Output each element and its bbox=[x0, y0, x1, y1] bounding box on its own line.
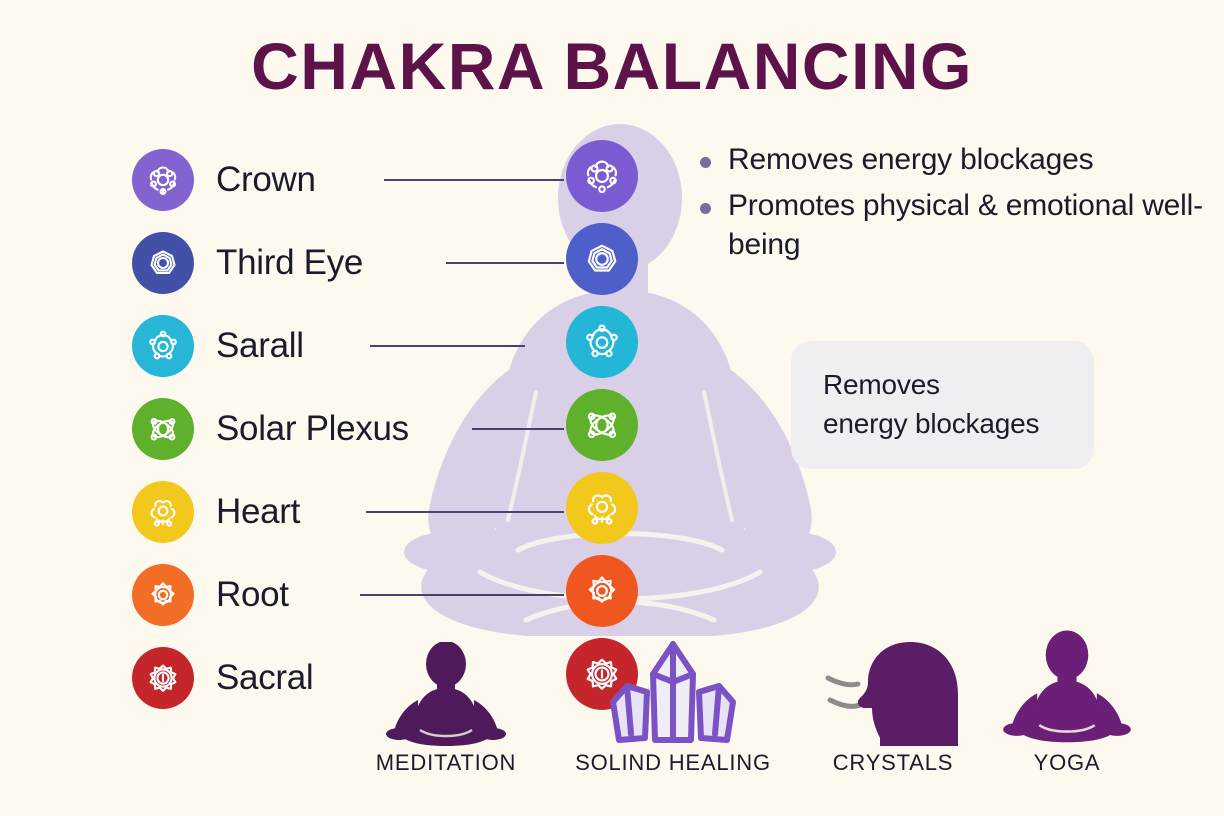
connector-line bbox=[366, 511, 564, 513]
legend-row-heart[interactable]: Heart bbox=[132, 470, 562, 553]
callout-text: Removes energy blockages bbox=[823, 366, 1039, 443]
sound-head-profile-icon bbox=[804, 632, 982, 750]
chakra-root-icon bbox=[132, 564, 194, 626]
modality-label: SOLIND HEALING bbox=[560, 750, 786, 776]
legend-label: Solar Plexus bbox=[216, 409, 409, 449]
legend-label: Crown bbox=[216, 160, 316, 200]
spine-node-heart[interactable] bbox=[566, 472, 638, 544]
connector-line bbox=[360, 594, 564, 596]
meditation-figure-icon bbox=[352, 638, 540, 750]
bullet-dot-icon bbox=[700, 157, 711, 168]
connector-line bbox=[384, 179, 564, 181]
infographic-canvas: CHAKRA BALANCING bbox=[0, 0, 1224, 816]
bullet-dot-icon bbox=[700, 203, 711, 214]
spine-node-crown[interactable] bbox=[566, 140, 638, 212]
chakra-third-eye-icon bbox=[132, 232, 194, 294]
modality-meditation[interactable]: MEDITATION bbox=[352, 638, 540, 776]
legend-label: Sarall bbox=[216, 326, 304, 366]
spine-node-throat[interactable] bbox=[566, 306, 638, 378]
callout-card: Removes energy blockages bbox=[791, 341, 1094, 469]
connector-line bbox=[472, 428, 564, 430]
legend-label: Heart bbox=[216, 492, 300, 532]
modality-sound-healing[interactable]: SOLIND HEALING bbox=[560, 628, 786, 776]
callout-line-2: energy blockages bbox=[823, 408, 1039, 439]
yoga-figure-icon bbox=[992, 624, 1142, 750]
list-item: Promotes physical & emotional well-being bbox=[700, 186, 1210, 265]
legend-row-third-eye[interactable]: Third Eye bbox=[132, 221, 562, 304]
connector-line bbox=[370, 345, 525, 347]
spine-node-root[interactable] bbox=[566, 555, 638, 627]
spine-node-solar-plexus[interactable] bbox=[566, 389, 638, 461]
benefit-text: Removes energy blockages bbox=[728, 140, 1093, 180]
benefits-list: Removes energy blockages Promotes physic… bbox=[700, 140, 1210, 271]
modality-crystals[interactable]: CRYSTALS bbox=[804, 632, 982, 776]
crystals-cluster-icon bbox=[560, 628, 786, 750]
modality-row: MEDITATION bbox=[352, 620, 1142, 816]
legend-label: Sacral bbox=[216, 658, 313, 698]
modality-yoga[interactable]: YOGA bbox=[992, 624, 1142, 776]
legend-row-crown[interactable]: Crown bbox=[132, 138, 562, 221]
chakra-solar-plexus-icon bbox=[132, 398, 194, 460]
modality-label: MEDITATION bbox=[352, 750, 540, 776]
list-item: Removes energy blockages bbox=[700, 140, 1210, 180]
legend-row-sarall[interactable]: Sarall bbox=[132, 304, 562, 387]
chakra-crown-icon bbox=[132, 149, 194, 211]
benefit-text: Promotes physical & emotional well-being bbox=[728, 186, 1210, 265]
page-title: CHAKRA BALANCING bbox=[0, 28, 1224, 104]
modality-label: CRYSTALS bbox=[804, 750, 982, 776]
spine-node-third-eye[interactable] bbox=[566, 223, 638, 295]
legend-row-solar-plexus[interactable]: Solar Plexus bbox=[132, 387, 562, 470]
legend-label: Third Eye bbox=[216, 243, 363, 283]
chakra-throat-icon bbox=[132, 315, 194, 377]
legend-label: Root bbox=[216, 575, 289, 615]
chakra-heart-icon bbox=[132, 481, 194, 543]
connector-line bbox=[446, 262, 564, 264]
callout-line-1: Removes bbox=[823, 369, 940, 400]
modality-label: YOGA bbox=[992, 750, 1142, 776]
chakra-sacral-icon bbox=[132, 647, 194, 709]
